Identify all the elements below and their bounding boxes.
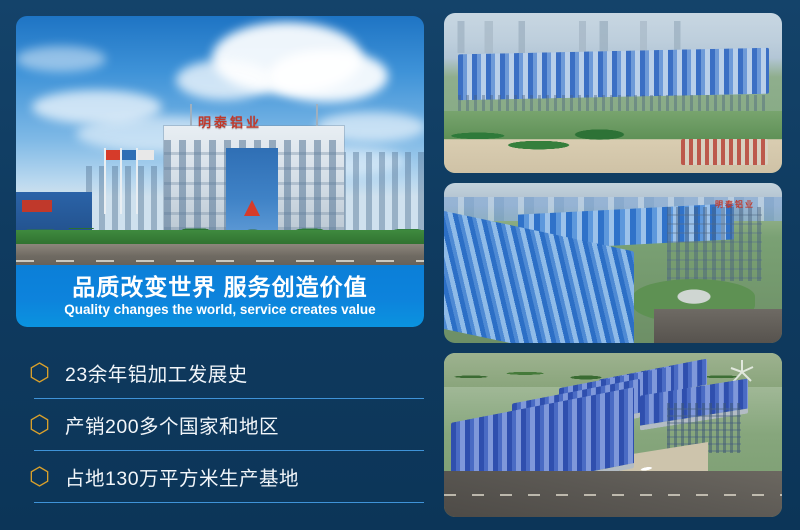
feature-label: 产销200多个国家和地区 bbox=[65, 410, 279, 439]
plant-road bbox=[654, 309, 782, 343]
gallery-column: 明泰铝业 bbox=[444, 13, 782, 517]
red-signboard bbox=[22, 200, 52, 212]
slogan-english: Quality changes the world, service creat… bbox=[64, 302, 375, 317]
roof-mast-icon bbox=[190, 104, 192, 126]
feature-divider bbox=[34, 502, 424, 503]
factory-facade bbox=[458, 95, 769, 111]
building-sign-text: 明泰铝业 bbox=[198, 112, 262, 131]
cloud-shape bbox=[268, 50, 388, 102]
cloud-shape bbox=[16, 46, 106, 72]
hexagon-icon bbox=[30, 414, 49, 435]
flag-icon bbox=[138, 150, 154, 160]
roof-mast-icon bbox=[316, 104, 318, 126]
value-slogan-banner: 品质改变世界 服务创造价值 Quality changes the world,… bbox=[16, 265, 424, 327]
slogan-chinese: 品质改变世界 服务创造价值 bbox=[72, 275, 367, 299]
feature-list: 23余年铝加工发展史 产销200多个国家和地区 占地130万平方米生 bbox=[16, 346, 424, 502]
feature-item-1[interactable]: 23余年铝加工发展史 bbox=[16, 346, 424, 398]
company-headquarters-photo: 明泰铝业 bbox=[16, 16, 424, 274]
feature-label: 占地130万平方米生产基地 bbox=[65, 462, 299, 491]
factory-roofs bbox=[458, 48, 769, 101]
office-tower bbox=[667, 207, 762, 281]
feature-item-3[interactable]: 占地130万平方米生产基地 bbox=[16, 450, 424, 502]
feature-item-2[interactable]: 产销200多个国家和地区 bbox=[16, 398, 424, 450]
industrial-park-rendering[interactable] bbox=[444, 353, 782, 517]
feature-label: 23余年铝加工发展史 bbox=[65, 358, 248, 387]
hexagon-icon bbox=[30, 362, 49, 383]
vehicle-parking-lot bbox=[681, 139, 769, 165]
left-column: 明泰铝业 bbox=[16, 16, 424, 514]
cloud-shape bbox=[176, 60, 272, 100]
tower-sign-text: 明泰铝业 bbox=[715, 199, 755, 210]
aerial-factory-workshops-photo[interactable]: 明泰铝业 bbox=[444, 183, 782, 343]
highway bbox=[444, 471, 782, 517]
company-profile-banner: 明泰铝业 bbox=[0, 0, 800, 530]
aerial-factory-wide-photo[interactable] bbox=[444, 13, 782, 173]
hero-card: 明泰铝业 bbox=[16, 16, 424, 327]
hexagon-icon bbox=[30, 466, 49, 487]
road-lane-marking bbox=[16, 260, 424, 262]
